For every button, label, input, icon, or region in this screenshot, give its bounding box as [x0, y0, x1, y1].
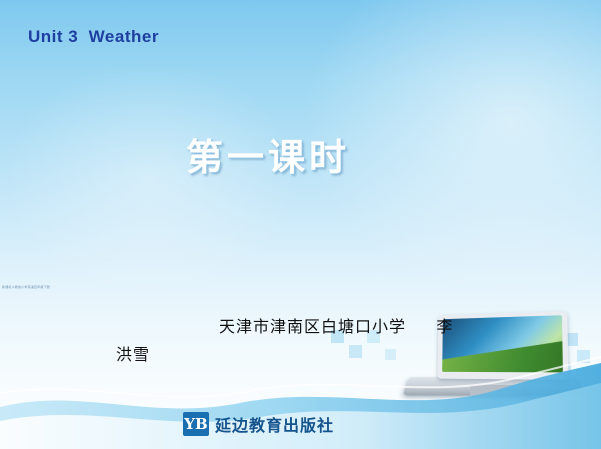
presentation-slide: Unit 3 Weather 第一课时 新课标人教版小学英语四年级下册 天津市津… [0, 0, 601, 449]
publisher-logo-mark: YB [183, 412, 209, 436]
decor-square [349, 345, 362, 358]
page-title: 第一课时 [186, 127, 350, 181]
laptop-touchpad [470, 385, 514, 397]
unit-title: Unit 3 Weather [28, 27, 159, 47]
publisher-logo: YB 延边教育出版社 [183, 412, 334, 436]
decor-square [385, 349, 396, 360]
laptop-screen [438, 311, 569, 380]
small-caption: 新课标人教版小学英语四年级下册 [2, 285, 50, 289]
publisher-name: 延边教育出版社 [215, 412, 334, 436]
school-name: 天津市津南区白塘口小学 李 [219, 313, 453, 337]
laptop-screen-wallpaper [442, 315, 563, 372]
teacher-name: 洪雪 [116, 341, 150, 365]
